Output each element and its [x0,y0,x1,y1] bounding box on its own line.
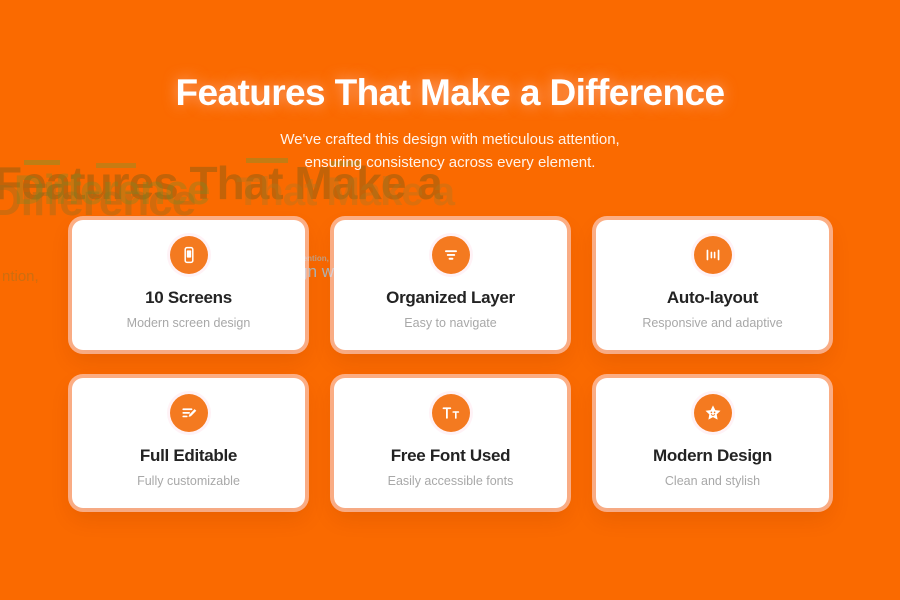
feature-card[interactable]: 10 ScreensModern screen design [72,220,305,350]
page-subtitle: We've crafted this design with meticulou… [0,129,900,174]
feature-card-title: Modern Design [653,446,772,466]
star-badge-icon [694,394,732,432]
page-subtitle-line-1: We've crafted this design with meticulou… [0,129,900,152]
feature-card[interactable]: Full EditableFully customizable [72,378,305,508]
feature-card[interactable]: Free Font UsedEasily accessible fonts [334,378,567,508]
auto-layout-distribute-icon [694,236,732,274]
feature-card-title: Free Font Used [391,446,511,466]
feature-card-description: Responsive and adaptive [642,316,782,330]
layers-stack-icon [432,236,470,274]
feature-card-description: Clean and stylish [665,474,760,488]
feature-card-description: Easily accessible fonts [388,474,514,488]
page-title: Features That Make a Difference [0,72,900,114]
features-section: Features That Make a Difference Differen… [0,0,900,600]
feature-card-title: Organized Layer [386,288,515,308]
feature-card-description: Fully customizable [137,474,240,488]
feature-card-title: 10 Screens [145,288,232,308]
ghost-artifact-fragment: ntion, [2,268,39,285]
section-header: Features That Make a Difference We've cr… [0,0,900,174]
ghost-artifact-title-d: That Make a [236,170,454,215]
feature-card[interactable]: Modern DesignClean and stylish [596,378,829,508]
mobile-screen-icon [170,236,208,274]
edit-pencil-icon [170,394,208,432]
feature-card-description: Modern screen design [127,316,251,330]
feature-card-title: Full Editable [140,446,237,466]
feature-card[interactable]: Organized LayerEasy to navigate [334,220,567,350]
feature-card-title: Auto-layout [667,288,758,308]
ghost-artifact-title-b: Difference [0,176,195,226]
feature-card[interactable]: Auto-layoutResponsive and adaptive [596,220,829,350]
feature-card-description: Easy to navigate [404,316,496,330]
page-subtitle-line-2: ensuring consistency across every elemen… [0,152,900,175]
typography-tt-icon [432,394,470,432]
feature-card-grid: 10 ScreensModern screen designOrganized … [72,220,829,508]
